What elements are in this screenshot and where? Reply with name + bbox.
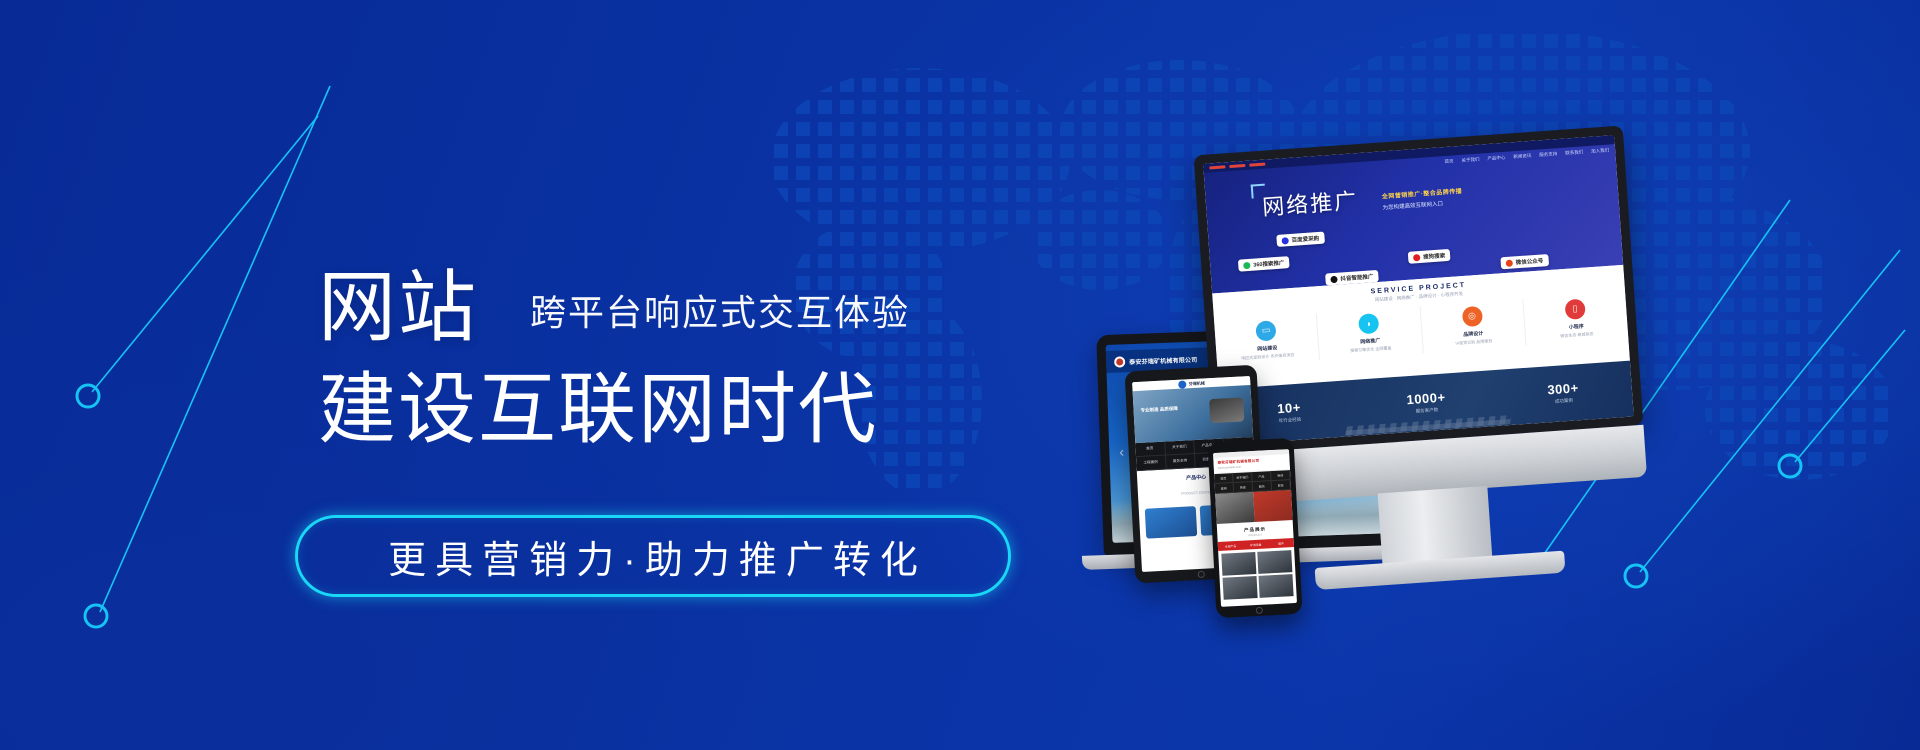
tagline-pill: 更具营销力·助力推广转化 bbox=[295, 515, 1011, 597]
phone-thumb-0 bbox=[1221, 552, 1256, 576]
imac-bezel: 首页 关于我们 产品中心 新闻资讯 服务支持 联系我们 加入我们 网络推广 全网… bbox=[1194, 126, 1644, 455]
imac-hero-subtitle: 全网营销推广·整合品牌传播 为您构建高效互联网入口 bbox=[1381, 183, 1502, 211]
badge-1-icon bbox=[1243, 261, 1250, 268]
imac-nav-0: 首页 bbox=[1444, 158, 1453, 165]
tablet-logo-icon bbox=[1178, 380, 1186, 388]
imac-nav-1: 关于我们 bbox=[1461, 157, 1479, 164]
monitor-icon: ▭ bbox=[1255, 320, 1276, 341]
tablet-product-0 bbox=[1145, 506, 1198, 539]
badge-1-label: 360搜索推广 bbox=[1253, 258, 1285, 268]
badge-4-label: 微信公众号 bbox=[1515, 256, 1543, 266]
phone-tab-0: 全部产品 bbox=[1218, 541, 1244, 551]
imac-nav-5: 联系我们 bbox=[1565, 149, 1583, 156]
tablet-menu-4: 工程案例 bbox=[1136, 456, 1166, 472]
hero-banner: 网站 跨平台响应式交互体验 建设 互联网时代 更具营销力·助力推广转化 泰安芬瑞… bbox=[0, 0, 1920, 750]
hero-subtitle: 跨平台响应式交互体验 bbox=[530, 284, 910, 336]
phone-thumb-1 bbox=[1257, 550, 1292, 574]
badge-3: 搜狗搜索 bbox=[1408, 249, 1451, 264]
badge-4: 微信公众号 bbox=[1500, 254, 1548, 269]
device-mockup-cluster: 泰安芬瑞矿机械有限公司 网站首页 关于我们 产品中心 新闻中心 服务中心 联系我… bbox=[1090, 140, 1890, 660]
laptop-logo: 泰安芬瑞矿机械有限公司 bbox=[1114, 353, 1198, 367]
headline-row-1: 网站 跨平台响应式交互体验 bbox=[318, 268, 1078, 348]
palette-icon: ◎ bbox=[1461, 306, 1482, 327]
badge-0-icon bbox=[1281, 237, 1288, 244]
imac-nav-2: 产品中心 bbox=[1487, 155, 1505, 162]
company-mark-icon bbox=[1114, 356, 1125, 367]
badge-4-icon bbox=[1506, 259, 1513, 266]
stat-1: 1000+ 服务客户数 bbox=[1357, 386, 1496, 419]
imac-nav-3: 新闻资讯 bbox=[1513, 153, 1531, 160]
headline-line-1: 网站 bbox=[318, 268, 478, 348]
phone-banner bbox=[1215, 490, 1292, 524]
tablet-hero-product bbox=[1209, 397, 1244, 423]
service-card-3: ▯ 小程序 微信生态 商城系统 bbox=[1523, 291, 1628, 345]
phone-home-button bbox=[1256, 607, 1263, 614]
tablet-section-sub: PRODUCT CENTER bbox=[1181, 490, 1213, 496]
phone-banner-0 bbox=[1215, 492, 1255, 524]
hero-copy: 网站 跨平台响应式交互体验 建设 互联网时代 bbox=[318, 268, 1078, 449]
badge-0-label: 百度爱采购 bbox=[1291, 234, 1319, 244]
service-card-1: ◗ 网络推广 搜索引擎优化 全网覆盖 bbox=[1317, 306, 1423, 360]
tagline-text: 更具营销力·助力推广转化 bbox=[379, 529, 927, 584]
app-icon: ▯ bbox=[1564, 298, 1585, 319]
headline-line-2a: 建设 bbox=[318, 370, 478, 450]
imac-screen: 首页 关于我们 产品中心 新闻资讯 服务支持 联系我们 加入我们 网络推广 全网… bbox=[1203, 135, 1634, 445]
headline-row-2: 建设 互联网时代 bbox=[318, 370, 1078, 450]
badge-0: 百度爱采购 bbox=[1276, 232, 1324, 247]
badge-3-icon bbox=[1413, 253, 1420, 260]
service-card-0: ▭ 网站建设 响应式定制设计 多终端自适应 bbox=[1214, 313, 1320, 367]
tablet-hero-line1: 专业制造 bbox=[1140, 407, 1158, 413]
phone-mockup: 泰安芬瑞矿机械有限公司 www.example.com 首页 关于我们 产品 新… bbox=[1207, 438, 1302, 618]
badge-1: 360搜索推广 bbox=[1238, 256, 1290, 272]
phone-banner-1 bbox=[1253, 490, 1293, 522]
topbar-accent-1 bbox=[1209, 165, 1225, 169]
phone-tab-2: 配件 bbox=[1268, 538, 1294, 548]
badge-2-icon bbox=[1330, 275, 1337, 282]
phone-thumb-grid bbox=[1218, 547, 1297, 603]
service-card-2: ◎ 品牌设计 VI视觉识别 品牌策划 bbox=[1420, 299, 1526, 353]
phone-screen: 泰安芬瑞矿机械有限公司 www.example.com 首页 关于我们 产品 新… bbox=[1213, 449, 1297, 607]
phone-thumb-2 bbox=[1223, 576, 1258, 600]
tablet-home-button bbox=[1198, 571, 1205, 578]
tablet-hero: 专业制造 品质保障 bbox=[1133, 385, 1254, 443]
phone-thumb-3 bbox=[1259, 574, 1294, 598]
topbar-accent-2 bbox=[1229, 164, 1245, 168]
headline-line-2b: 互联网时代 bbox=[478, 370, 878, 450]
imac-hero-title: 网络推广 bbox=[1261, 183, 1359, 222]
badge-3-label: 搜狗搜索 bbox=[1423, 251, 1446, 261]
topbar-accent-3 bbox=[1249, 163, 1265, 167]
laptop-brand: 泰安芬瑞矿机械有限公司 bbox=[1129, 354, 1197, 365]
tablet-hero-line2: 品质保障 bbox=[1160, 406, 1178, 412]
megaphone-icon: ◗ bbox=[1358, 313, 1379, 334]
badge-2-label: 抖音智能推广 bbox=[1340, 272, 1373, 282]
phone-tab-1: 矿用设备 bbox=[1243, 539, 1269, 549]
carousel-prev-icon: ‹ bbox=[1119, 443, 1124, 459]
tablet-menu-5: 服务支持 bbox=[1165, 454, 1195, 470]
stat-2: 300+ 成功案例 bbox=[1494, 377, 1633, 410]
tablet-brand: 芬瑞机械 bbox=[1189, 380, 1205, 387]
tablet-hero-text: 专业制造 品质保障 bbox=[1140, 405, 1178, 415]
imac-nav-4: 服务支持 bbox=[1539, 151, 1557, 158]
imac-nav-6: 加入我们 bbox=[1591, 148, 1609, 155]
